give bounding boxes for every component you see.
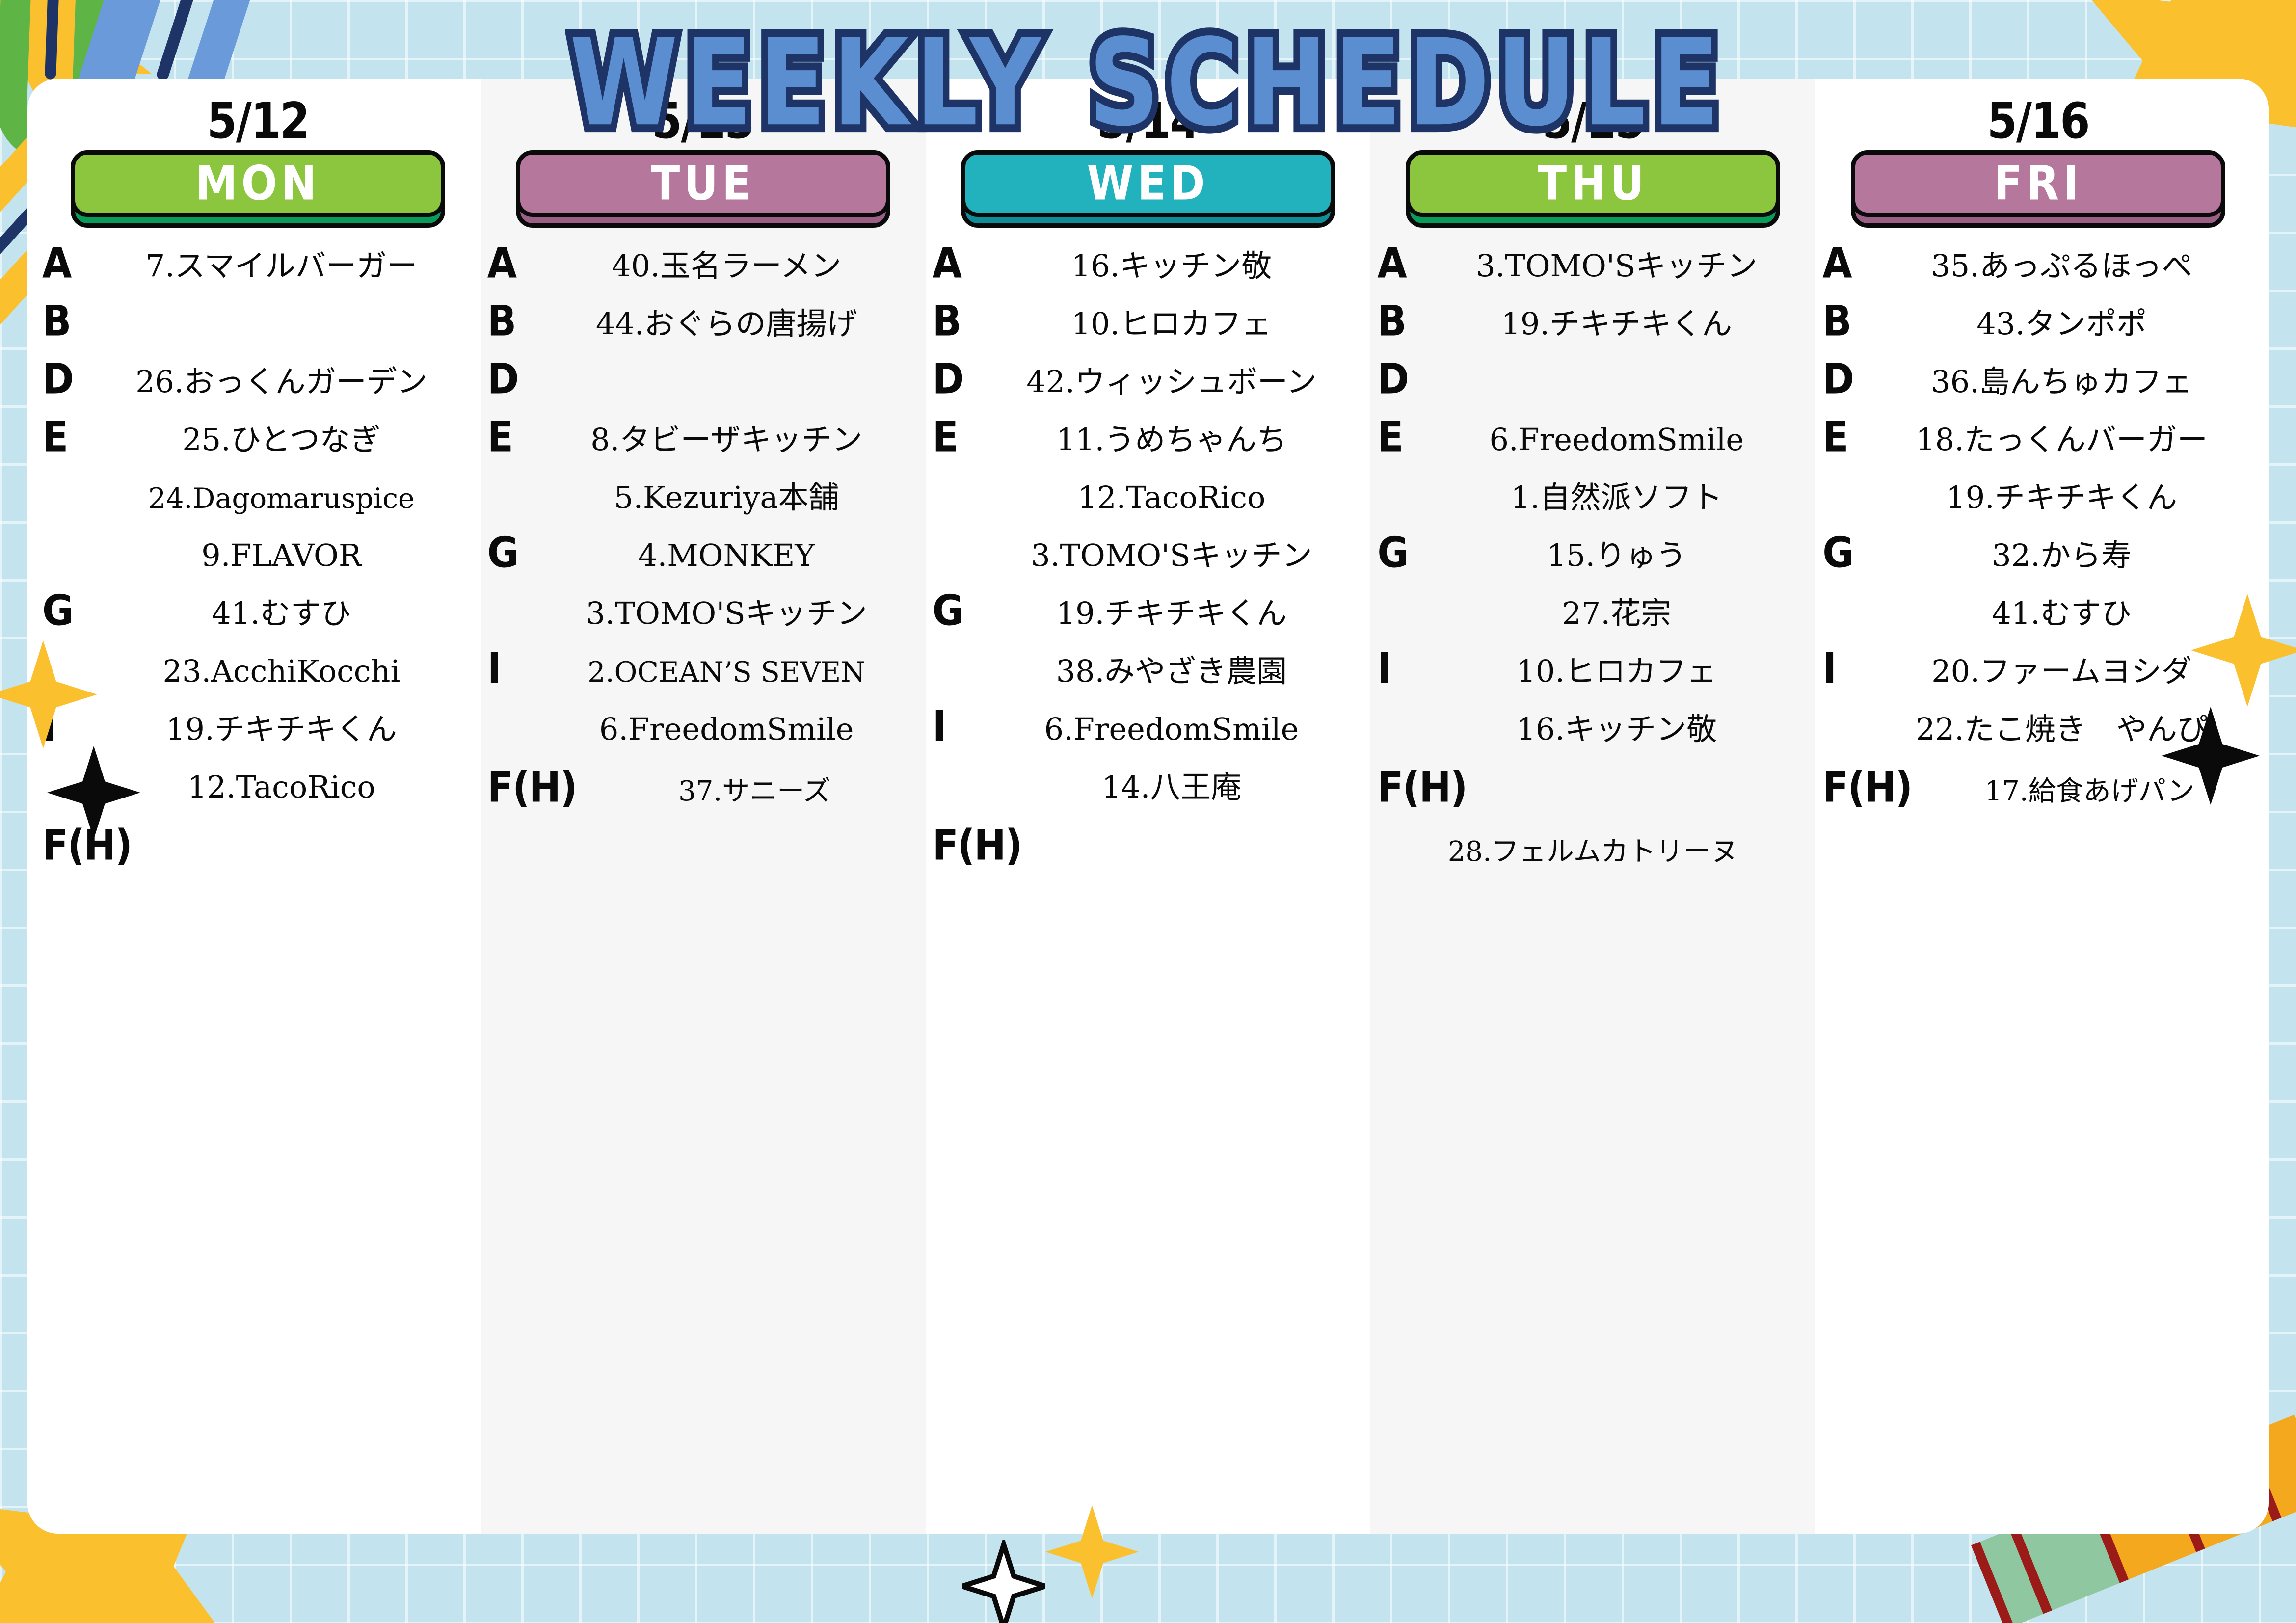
slot-value: 19.チキチキくん xyxy=(1869,481,2254,513)
slot-value: 43.タンポポ xyxy=(1869,308,2254,340)
slot-key-fh: F(H) xyxy=(487,764,590,812)
slot-row-continuation: G41.むすひ xyxy=(1820,592,2256,650)
slot-key: E xyxy=(42,416,89,458)
slot-row: I19.チキチキくん xyxy=(40,708,476,766)
slot-row-continuation: I14.八王庵 xyxy=(931,766,1366,824)
slot-value: 9.FLAVOR xyxy=(89,539,474,571)
slot-value: 4.MONKEY xyxy=(534,539,919,571)
slot-row-continuation: G3.TOMO'Sキッチン xyxy=(485,592,921,650)
slot-row: G15.りゅう xyxy=(1375,534,1811,592)
slot-row: E6.FreedomSmile xyxy=(1375,418,1811,476)
slot-value-fh: 17.給食あげパン xyxy=(1925,769,2254,809)
day-column-tue: 5/13TUEA40.玉名ラーメンB44.おぐらの唐揚げDE8.タビーザキッチン… xyxy=(481,79,926,1534)
slot-key: D xyxy=(1377,358,1424,400)
day-badge-label: MON xyxy=(195,156,320,211)
slot-row: G32.から寿 xyxy=(1820,534,2256,592)
slot-row: D26.おっくんガーデン xyxy=(40,360,476,418)
slot-value: 8.タビーザキッチン xyxy=(534,424,919,455)
slot-row: D36.島んちゅカフェ xyxy=(1820,360,2256,418)
page-title: WEEKLY SCHEDULE xyxy=(570,15,1727,153)
day-badge-tue[interactable]: TUE xyxy=(516,150,890,228)
slot-value-fh-continuation: 28.フェルムカトリーヌ xyxy=(1375,821,1811,869)
slot-row-continuation: I12.TacoRico xyxy=(40,766,476,824)
day-badge-face: THU xyxy=(1406,150,1780,217)
day-badge-label: TUE xyxy=(651,156,755,211)
slot-key: D xyxy=(1822,358,1869,400)
slot-key: E xyxy=(1377,416,1424,458)
slot-key-fh: F(H) xyxy=(42,822,145,870)
slot-value: 6.FreedomSmile xyxy=(534,713,919,745)
slot-row-continuation: I22.たこ焼き やんぴ xyxy=(1820,708,2256,766)
slot-value: 25.ひとつなぎ xyxy=(89,424,474,455)
slot-key: A xyxy=(1377,242,1424,285)
slot-value: 15.りゅう xyxy=(1424,539,1809,571)
slot-key: A xyxy=(1822,242,1869,285)
slot-key-fh: F(H) xyxy=(1377,764,1480,812)
slot-value: 20.ファームヨシダ xyxy=(1869,655,2254,687)
slot-value: 40.玉名ラーメン xyxy=(534,250,919,282)
slot-row: I6.FreedomSmile xyxy=(931,708,1366,766)
slot-key: G xyxy=(933,590,980,632)
slot-row-fh: F(H)17.給食あげパン xyxy=(1820,766,2256,821)
slot-value: 6.FreedomSmile xyxy=(1424,424,1809,455)
slot-row-fh: F(H)37.サニーズ xyxy=(485,766,921,821)
day-column-fri: 5/16FRIA35.あっぷるほっぺB43.タンポポD36.島んちゅカフェE18… xyxy=(1815,79,2261,1534)
slot-row-continuation: G27.花宗 xyxy=(1375,592,1811,650)
slot-row: A16.キッチン敬 xyxy=(931,244,1366,302)
slot-value: 1.自然派ソフト xyxy=(1424,481,1809,513)
slot-value: 19.チキチキくん xyxy=(1424,308,1809,340)
day-badge-label: THU xyxy=(1538,156,1648,211)
slot-value: 12.TacoRico xyxy=(89,771,474,803)
slot-value: 41.むすひ xyxy=(89,597,474,629)
day-badge-thu[interactable]: THU xyxy=(1406,150,1780,228)
slot-row-continuation: E9.FLAVOR xyxy=(40,534,476,592)
slot-value: 3.TOMO'Sキッチン xyxy=(534,597,919,629)
slot-key: D xyxy=(42,358,89,400)
slot-key: A xyxy=(933,242,980,285)
slot-row-continuation: E12.TacoRico xyxy=(931,476,1366,534)
slot-row-continuation: E24.Dagomaruspice xyxy=(40,476,476,534)
slot-row-continuation: G38.みやざき農園 xyxy=(931,650,1366,708)
slot-value: 6.FreedomSmile xyxy=(980,713,1364,745)
slot-key: I xyxy=(42,706,89,748)
slot-row: E25.ひとつなぎ xyxy=(40,418,476,476)
day-badge-face: WED xyxy=(961,150,1335,217)
weekly-schedule-card: 5/12MONA7.スマイルバーガーBD26.おっくんガーデンE25.ひとつなぎ… xyxy=(27,79,2269,1534)
slot-row: E11.うめちゃんち xyxy=(931,418,1366,476)
slot-value: 12.TacoRico xyxy=(980,481,1364,513)
slot-key: I xyxy=(1377,648,1424,690)
slot-value: 10.ヒロカフェ xyxy=(1424,655,1809,687)
day-badge-mon[interactable]: MON xyxy=(71,150,445,228)
day-badge-label: WED xyxy=(1087,156,1209,211)
slot-row-continuation: I16.キッチン敬 xyxy=(1375,708,1811,766)
slot-value: 23.AcchiKocchi xyxy=(89,655,474,687)
slot-key: E xyxy=(1822,416,1869,458)
slot-value: 11.うめちゃんち xyxy=(980,424,1364,455)
slot-key-fh: F(H) xyxy=(1822,764,1925,812)
slot-row: I10.ヒロカフェ xyxy=(1375,650,1811,708)
slot-value: 7.スマイルバーガー xyxy=(89,250,474,282)
slot-key: G xyxy=(487,532,534,574)
slot-key: A xyxy=(487,242,534,285)
slot-value: 16.キッチン敬 xyxy=(1424,713,1809,745)
slot-key: B xyxy=(42,300,89,343)
slot-value: 24.Dagomaruspice xyxy=(89,484,474,514)
slot-value: 42.ウィッシュボーン xyxy=(980,366,1364,398)
slot-key: G xyxy=(1377,532,1424,574)
slot-row: D xyxy=(485,360,921,418)
slot-value: 14.八王庵 xyxy=(980,771,1364,803)
slot-row-continuation: I6.FreedomSmile xyxy=(485,708,921,766)
slot-key: I xyxy=(487,648,534,690)
day-badge-face: TUE xyxy=(516,150,890,217)
slot-value: 44.おぐらの唐揚げ xyxy=(534,308,919,340)
slot-value: 10.ヒロカフェ xyxy=(980,308,1364,340)
slot-row: E18.たっくんバーガー xyxy=(1820,418,2256,476)
slot-value: 3.TOMO'Sキッチン xyxy=(1424,250,1809,282)
slot-row: G4.MONKEY xyxy=(485,534,921,592)
slot-value: 27.花宗 xyxy=(1424,597,1809,629)
slot-key: G xyxy=(1822,532,1869,574)
day-badge-face: FRI xyxy=(1851,150,2225,217)
slot-key: B xyxy=(487,300,534,343)
slot-value: 2.OCEAN’S SEVEN xyxy=(534,658,919,688)
slot-row-fh: F(H) xyxy=(1375,766,1811,821)
slot-key: B xyxy=(1377,300,1424,343)
slot-key: G xyxy=(42,590,89,632)
slot-row: I2.OCEAN’S SEVEN xyxy=(485,650,921,708)
slot-value: 41.むすひ xyxy=(1869,597,2254,629)
slot-value-fh: 37.サニーズ xyxy=(590,769,919,809)
slot-row: A35.あっぷるほっぺ xyxy=(1820,244,2256,302)
slot-value: 22.たこ焼き やんぴ xyxy=(1869,713,2254,745)
day-badge-wed[interactable]: WED xyxy=(961,150,1335,228)
slot-key: A xyxy=(42,242,89,285)
slot-value: 5.Kezuriya本舗 xyxy=(534,481,919,513)
slot-key: B xyxy=(1822,300,1869,343)
slot-key: I xyxy=(933,706,980,748)
slot-value: 38.みやざき農園 xyxy=(980,655,1364,687)
slot-row-fh: F(H) xyxy=(40,824,476,878)
slot-row-continuation: G23.AcchiKocchi xyxy=(40,650,476,708)
slot-key: I xyxy=(1822,648,1869,690)
slot-row-continuation: E3.TOMO'Sキッチン xyxy=(931,534,1366,592)
slot-key: D xyxy=(487,358,534,400)
slot-row: B43.タンポポ xyxy=(1820,302,2256,360)
slot-row-continuation: E5.Kezuriya本舗 xyxy=(485,476,921,534)
slot-row: A7.スマイルバーガー xyxy=(40,244,476,302)
slot-row: B44.おぐらの唐揚げ xyxy=(485,302,921,360)
slot-key-fh: F(H) xyxy=(933,822,1036,870)
page-title-wrapper: WEEKLY SCHEDULE xyxy=(0,15,2296,128)
day-column-wed: 5/14WEDA16.キッチン敬B10.ヒロカフェD42.ウィッシュボーンE11… xyxy=(926,79,1371,1534)
slot-key: E xyxy=(487,416,534,458)
slot-row-continuation: E19.チキチキくん xyxy=(1820,476,2256,534)
slot-key: E xyxy=(933,416,980,458)
slot-value: 19.チキチキくん xyxy=(980,597,1364,629)
day-column-mon: 5/12MONA7.スマイルバーガーBD26.おっくんガーデンE25.ひとつなぎ… xyxy=(35,79,481,1534)
slot-row: B xyxy=(40,302,476,360)
day-badge-face: MON xyxy=(71,150,445,217)
slot-row: B19.チキチキくん xyxy=(1375,302,1811,360)
slot-row: A3.TOMO'Sキッチン xyxy=(1375,244,1811,302)
slot-row: E8.タビーザキッチン xyxy=(485,418,921,476)
day-badge-label: FRI xyxy=(1994,156,2082,211)
slot-value: 36.島んちゅカフェ xyxy=(1869,366,2254,398)
slot-value: 18.たっくんバーガー xyxy=(1869,424,2254,455)
slot-value: 19.チキチキくん xyxy=(89,713,474,745)
slot-row: B10.ヒロカフェ xyxy=(931,302,1366,360)
day-column-thu: 5/15THUA3.TOMO'SキッチンB19.チキチキくんDE6.Freedo… xyxy=(1370,79,1815,1534)
slot-row: A40.玉名ラーメン xyxy=(485,244,921,302)
slot-value: 16.キッチン敬 xyxy=(980,250,1364,282)
slot-value: 35.あっぷるほっぺ xyxy=(1869,250,2254,282)
slot-key: B xyxy=(933,300,980,343)
slot-row: D42.ウィッシュボーン xyxy=(931,360,1366,418)
slot-value: 26.おっくんガーデン xyxy=(89,366,474,398)
day-badge-fri[interactable]: FRI xyxy=(1851,150,2225,228)
slot-row: I20.ファームヨシダ xyxy=(1820,650,2256,708)
slot-row-fh: F(H) xyxy=(931,824,1366,878)
slot-row: D xyxy=(1375,360,1811,418)
slot-key: D xyxy=(933,358,980,400)
slot-value: 32.から寿 xyxy=(1869,539,2254,571)
slot-row: G19.チキチキくん xyxy=(931,592,1366,650)
slot-row: G41.むすひ xyxy=(40,592,476,650)
slot-value: 3.TOMO'Sキッチン xyxy=(980,539,1364,571)
slot-row-continuation: E1.自然派ソフト xyxy=(1375,476,1811,534)
